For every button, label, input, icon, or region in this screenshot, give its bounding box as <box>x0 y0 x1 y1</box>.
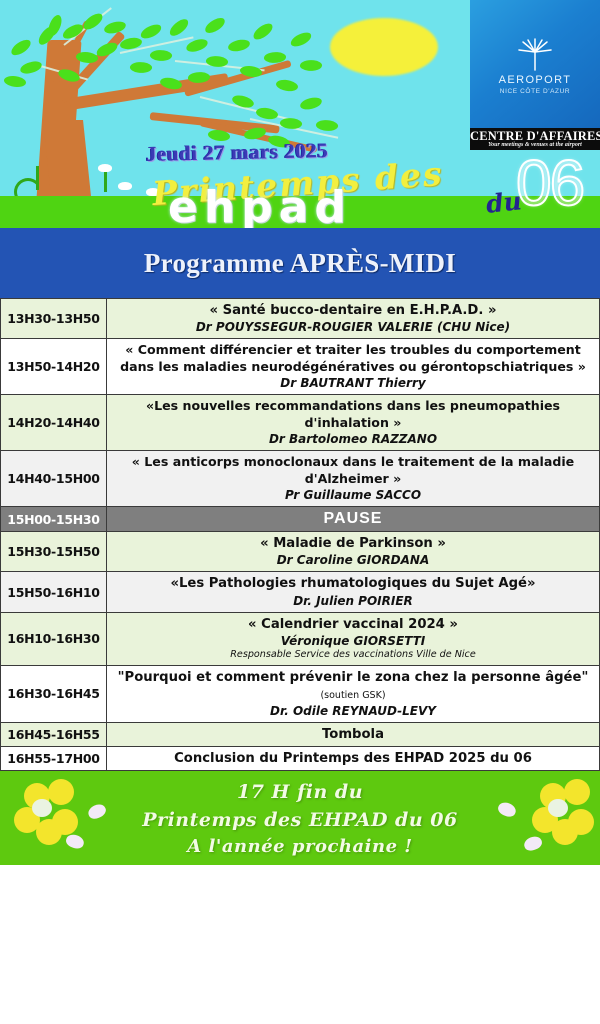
session-title: "Pourquoi et comment prévenir le zona ch… <box>111 669 595 703</box>
event-date: Jeudi 27 mars 2025 <box>146 138 329 167</box>
airport-logo-name: AEROPORT <box>470 74 600 86</box>
session-cell: Tombola <box>107 723 600 747</box>
footer-line-1: 17 H fin du <box>0 779 600 807</box>
table-row: 15H50-16H10«Les Pathologies rhumatologiq… <box>1 572 600 612</box>
table-row: 14H20-14H40«Les nouvelles recommandation… <box>1 395 600 451</box>
session-time: 13H50-14H20 <box>1 339 107 395</box>
session-title: Tombola <box>111 726 595 743</box>
session-speaker: Dr POUYSSEGUR-ROUGIER VALERIE (CHU Nice) <box>111 319 595 335</box>
session-time: 14H40-15H00 <box>1 451 107 507</box>
session-cell: «Les nouvelles recommandations dans les … <box>107 395 600 451</box>
session-time: 16H30-16H45 <box>1 665 107 723</box>
table-row: 14H40-15H00« Les anticorps monoclonaux d… <box>1 451 600 507</box>
sun-icon <box>330 18 438 76</box>
session-title: «Les Pathologies rhumatologiques du Suje… <box>111 575 595 592</box>
session-speaker: Dr Bartolomeo RAZZANO <box>111 431 595 447</box>
event-title-main: ehpad <box>168 182 352 228</box>
session-title: Conclusion du Printemps des EHPAD 2025 d… <box>111 750 595 767</box>
session-cell: « Comment différencier et traiter les tr… <box>107 339 600 395</box>
session-title: « Calendrier vaccinal 2024 » <box>111 616 595 633</box>
session-title: «Les nouvelles recommandations dans les … <box>111 398 595 431</box>
poster-footer: 17 H fin du Printemps des EHPAD du 06 A … <box>0 771 600 865</box>
session-cell: « Santé bucco-dentaire en E.H.P.A.D. »Dr… <box>107 299 600 339</box>
session-title: « Les anticorps monoclonaux dans le trai… <box>111 454 595 487</box>
session-sponsor: (soutien GSK) <box>320 690 385 701</box>
session-speaker-role: Responsable Service des vaccinations Vil… <box>111 649 595 661</box>
session-cell: « Les anticorps monoclonaux dans le trai… <box>107 451 600 507</box>
pause-label: PAUSE <box>111 510 595 528</box>
session-time: 14H20-14H40 <box>1 395 107 451</box>
table-row: 13H30-13H50« Santé bucco-dentaire en E.H… <box>1 299 600 339</box>
table-row: 16H55-17H00Conclusion du Printemps des E… <box>1 747 600 771</box>
session-title: « Santé bucco-dentaire en E.H.P.A.D. » <box>111 302 595 319</box>
session-title: « Maladie de Parkinson » <box>111 535 595 552</box>
centre-affaires-subtitle: Your meetings & venues at the airport <box>470 142 600 148</box>
schedule-table: 13H30-13H50« Santé bucco-dentaire en E.H… <box>0 298 600 771</box>
table-row: 16H45-16H55Tombola <box>1 723 600 747</box>
airport-logo-box: AEROPORT NICE CÔTE D'AZUR <box>470 0 600 128</box>
table-row: 16H10-16H30« Calendrier vaccinal 2024 »V… <box>1 612 600 665</box>
airport-logo-subtitle: NICE CÔTE D'AZUR <box>470 88 600 95</box>
event-title-number: 06 <box>516 146 583 220</box>
session-time: 16H10-16H30 <box>1 612 107 665</box>
session-time: 15H00-15H30 <box>1 507 107 532</box>
programme-title-bar: Programme APRÈS-MIDI <box>0 228 600 298</box>
session-speaker: Dr. Julien POIRIER <box>111 593 595 609</box>
page-title: Programme APRÈS-MIDI <box>144 248 456 279</box>
session-speaker: Pr Guillaume SACCO <box>111 487 595 503</box>
session-speaker: Véronique GIORSETTI <box>111 633 595 649</box>
session-cell: "Pourquoi et comment prévenir le zona ch… <box>107 665 600 723</box>
table-row: 15H00-15H30PAUSE <box>1 507 600 532</box>
session-title: « Comment différencier et traiter les tr… <box>111 342 595 375</box>
session-cell: « Calendrier vaccinal 2024 »Véronique GI… <box>107 612 600 665</box>
session-speaker: Dr Caroline GIORDANA <box>111 552 595 568</box>
session-speaker: Dr BAUTRANT Thierry <box>111 375 595 391</box>
session-time: 15H50-16H10 <box>1 572 107 612</box>
session-speaker: Dr. Odile REYNAUD-LEVY <box>111 703 595 719</box>
plant-stem <box>104 170 107 192</box>
session-cell: « Maladie de Parkinson »Dr Caroline GIOR… <box>107 532 600 572</box>
session-time: 15H30-15H50 <box>1 532 107 572</box>
white-flower-icon <box>118 182 132 190</box>
session-time: 16H55-17H00 <box>1 747 107 771</box>
centre-affaires-bar: CENTRE D'AFFAIRES Your meetings & venues… <box>470 128 600 150</box>
footer-line-2: Printemps des EHPAD du 06 <box>0 807 600 835</box>
session-cell: Conclusion du Printemps des EHPAD 2025 d… <box>107 747 600 771</box>
plant-stem <box>36 166 39 190</box>
session-time: 13H30-13H50 <box>1 299 107 339</box>
table-row: 13H50-14H20« Comment différencier et tra… <box>1 339 600 395</box>
poster-banner: Jeudi 27 mars 2025 Printemps des ehpad d… <box>0 0 600 228</box>
white-flower-icon <box>98 164 112 172</box>
schedule-table-body: 13H30-13H50« Santé bucco-dentaire en E.H… <box>1 299 600 771</box>
table-row: 16H30-16H45"Pourquoi et comment prévenir… <box>1 665 600 723</box>
table-row: 15H30-15H50« Maladie de Parkinson »Dr Ca… <box>1 532 600 572</box>
session-cell: «Les Pathologies rhumatologiques du Suje… <box>107 572 600 612</box>
footer-line-3: A l'année prochaine ! <box>0 834 600 860</box>
session-time: 16H45-16H55 <box>1 723 107 747</box>
footer-message: 17 H fin du Printemps des EHPAD du 06 A … <box>0 779 600 860</box>
session-cell: PAUSE <box>107 507 600 532</box>
palm-tree-icon <box>515 38 555 77</box>
